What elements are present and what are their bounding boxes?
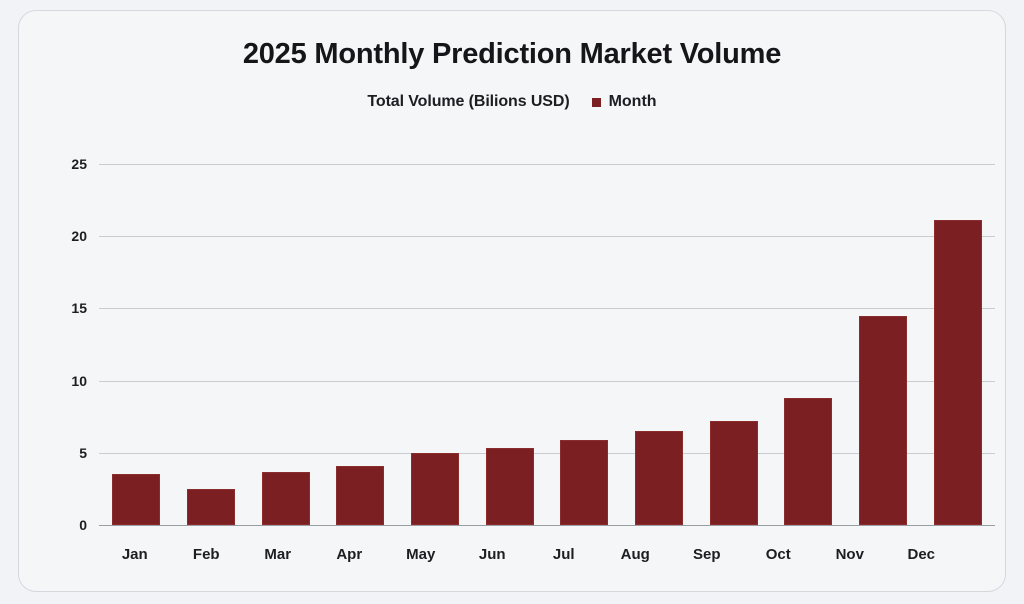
chart-title: 2025 Monthly Prediction Market Volume	[19, 38, 1005, 71]
bar-slot	[99, 164, 174, 525]
x-axis-tick-label: Jan	[99, 546, 171, 563]
bar[interactable]	[486, 448, 534, 525]
x-axis-tick-label: Aug	[600, 546, 672, 563]
x-axis-tick-label: Jul	[528, 546, 600, 563]
bar-slot	[248, 164, 323, 525]
y-axis-tick-label: 15	[71, 300, 87, 316]
bar[interactable]	[112, 474, 160, 525]
bar-slot	[472, 164, 547, 525]
bar[interactable]	[934, 220, 982, 525]
bar-slot	[174, 164, 249, 525]
bar[interactable]	[560, 440, 608, 525]
bar[interactable]	[187, 489, 235, 525]
bar-slot	[846, 164, 921, 525]
bar-slot	[547, 164, 622, 525]
y-axis-tick-label: 0	[79, 517, 87, 533]
x-axis-tick-label: Apr	[314, 546, 386, 563]
x-axis-tick-label: Jun	[457, 546, 529, 563]
bar[interactable]	[784, 398, 832, 525]
x-axis-tick-label: Mar	[242, 546, 314, 563]
legend-item-label: Month	[609, 93, 657, 111]
y-axis-tick-label: 10	[71, 373, 87, 389]
y-axis-tick-label: 25	[71, 156, 87, 172]
chart-card: 2025 Monthly Prediction Market Volume To…	[18, 10, 1006, 592]
x-axis-tick-label: Sep	[671, 546, 743, 563]
legend-item-month[interactable]: Month	[592, 93, 657, 111]
bar-slot	[771, 164, 846, 525]
bar[interactable]	[336, 466, 384, 525]
x-axis-tick-label: Dec	[886, 546, 958, 563]
legend-square-icon	[592, 98, 601, 107]
y-axis-tick-label: 20	[71, 228, 87, 244]
bar[interactable]	[635, 431, 683, 525]
x-axis-labels: JanFebMarAprMayJunJulAugSepOctNovDec	[99, 546, 957, 563]
y-axis-tick-label: 5	[79, 445, 87, 461]
bar-slot	[622, 164, 697, 525]
gridline: 0	[99, 525, 995, 526]
bar-slot	[920, 164, 995, 525]
x-axis-tick-label: Feb	[171, 546, 243, 563]
bar-slot	[398, 164, 473, 525]
bar[interactable]	[411, 453, 459, 525]
bar[interactable]	[710, 421, 758, 525]
plot-area: 0510152025	[81, 164, 995, 525]
x-axis-tick-label: Nov	[814, 546, 886, 563]
bar-slot	[323, 164, 398, 525]
bar[interactable]	[262, 472, 310, 525]
y-axis-caption: Total Volume (Bilions USD)	[367, 93, 569, 111]
bar-slot	[696, 164, 771, 525]
chart-legend: Total Volume (Bilions USD) Month	[19, 93, 1005, 111]
x-axis-tick-label: May	[385, 546, 457, 563]
bar[interactable]	[859, 316, 907, 525]
x-axis-tick-label: Oct	[743, 546, 815, 563]
bar-group	[99, 164, 995, 525]
